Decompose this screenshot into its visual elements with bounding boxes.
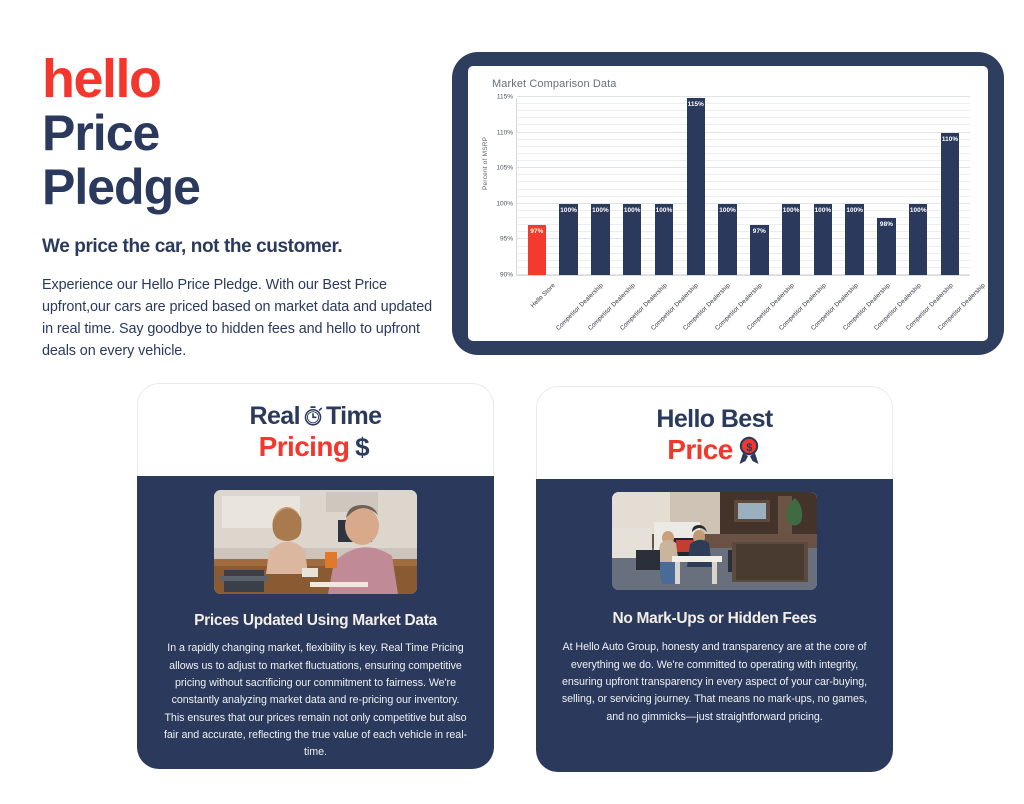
card-paragraph: At Hello Auto Group, honesty and transpa… — [560, 639, 869, 726]
x-label-slot: Hello Store — [520, 280, 552, 326]
card-title-word-price: Price — [667, 434, 733, 465]
photo-sales-consultation — [214, 490, 417, 594]
bar-slot: 115% — [680, 98, 712, 275]
award-ribbon-dollar-icon: $ — [736, 435, 762, 465]
y-tick-label: 95% — [500, 236, 513, 243]
bar-value-label: 97% — [530, 228, 543, 235]
chart-y-axis-label: Percent of MSRP — [482, 137, 489, 190]
bar-slot: 97% — [743, 98, 775, 275]
x-label-slot: Competitor Dealership — [839, 280, 871, 326]
bar-value-label: 100% — [783, 207, 800, 214]
card-title-text: Hello Best — [656, 405, 772, 433]
chart-bar[interactable]: 97% — [528, 225, 546, 275]
card-body: Prices Updated Using Market Data In a ra… — [137, 476, 494, 769]
x-label-slot: Competitor Dealership — [616, 280, 648, 326]
bar-slot: 100% — [775, 98, 807, 275]
card-title-word-pricing: Pricing — [259, 431, 350, 462]
chart-bar[interactable]: 100% — [909, 204, 927, 275]
bar-slot: 100% — [807, 98, 839, 275]
y-tick-label: 105% — [496, 165, 513, 172]
card-header: Hello Best Price $ — [536, 386, 893, 479]
bar-slot: 100% — [712, 98, 744, 275]
hero-subtitle: We price the car, not the customer. — [42, 236, 442, 258]
bar-slot: 98% — [871, 98, 903, 275]
chart-bar[interactable]: 100% — [623, 204, 641, 275]
bar-value-label: 100% — [910, 207, 927, 214]
bar-value-label: 100% — [719, 207, 736, 214]
x-label-slot: Competitor Dealership — [775, 280, 807, 326]
x-label-slot: Competitor Dealership — [934, 280, 966, 326]
bar-value-label: 97% — [753, 228, 766, 235]
bar-slot: 100% — [902, 98, 934, 275]
bar-value-label: 115% — [688, 101, 704, 108]
y-tick-label: 100% — [496, 200, 513, 207]
chart-bar[interactable]: 100% — [814, 204, 832, 275]
card-title-word-time: Time — [326, 402, 382, 430]
card-header: Real Time Pricing $ — [137, 383, 494, 476]
card-heading: No Mark-Ups or Hidden Fees — [536, 610, 893, 628]
chart-title: Market Comparison Data — [492, 78, 974, 90]
bar-value-label: 100% — [560, 207, 577, 214]
x-label-slot: Competitor Dealership — [552, 280, 584, 326]
y-tick-label: 90% — [500, 272, 513, 279]
bar-slot: 97% — [521, 98, 553, 275]
chart-bar[interactable]: 115% — [687, 98, 705, 275]
card-paragraph: In a rapidly changing market, flexibilit… — [163, 640, 468, 761]
page-title-line2: Pledge — [42, 160, 442, 214]
chart-bar[interactable]: 100% — [559, 204, 577, 275]
bar-slot: 100% — [839, 98, 871, 275]
bar-value-label: 100% — [815, 207, 832, 214]
x-label-slot: Competitor Dealership — [584, 280, 616, 326]
card-title-line2: Pricing $ — [148, 431, 483, 462]
chart-device-frame: Market Comparison Data Percent of MSRP 9… — [452, 52, 1004, 355]
bar-value-label: 100% — [656, 207, 673, 214]
bar-value-label: 100% — [846, 207, 863, 214]
chart-bar[interactable]: 98% — [877, 218, 895, 275]
chart-screen: Market Comparison Data Percent of MSRP 9… — [468, 66, 988, 341]
bar-value-label: 100% — [624, 207, 641, 214]
card-title-word-real: Real — [250, 402, 300, 430]
card-body: No Mark-Ups or Hidden Fees At Hello Auto… — [536, 479, 893, 772]
y-tick-label: 115% — [497, 94, 513, 101]
svg-text:$: $ — [355, 433, 370, 461]
bar-slot: 110% — [934, 98, 966, 275]
card-title-line1: Real Time — [148, 402, 483, 430]
x-label-slot: Competitor Dealership — [807, 280, 839, 326]
svg-text:$: $ — [746, 442, 752, 454]
stopwatch-icon — [302, 405, 324, 427]
bar-slot: 100% — [648, 98, 680, 275]
feature-card-hello-best-price: Hello Best Price $ — [536, 386, 893, 772]
brand-wordmark: hello — [42, 52, 442, 106]
card-title-line2: Price $ — [547, 434, 882, 465]
chart-bar[interactable]: 100% — [655, 204, 673, 275]
y-tick-label: 110% — [497, 129, 513, 136]
chart-bar[interactable]: 100% — [845, 204, 863, 275]
hero-section: hello Price Pledge We price the car, not… — [42, 52, 442, 363]
x-label-slot: Competitor Dealership — [647, 280, 679, 326]
chart-plot: 90%95%100%105%110%115% 97%100%100%100%10… — [516, 98, 970, 276]
photo-dealership-showroom — [612, 492, 817, 590]
bar-value-label: 110% — [942, 136, 958, 143]
dollar-sign-icon: $ — [352, 433, 372, 461]
chart-bars: 97%100%100%100%100%115%100%97%100%100%10… — [517, 98, 970, 275]
bar-slot: 100% — [553, 98, 585, 275]
x-tick-label: Competitor Dealership — [937, 282, 987, 332]
x-label-slot: Competitor Dealership — [711, 280, 743, 326]
feature-card-real-time-pricing: Real Time Pricing $ — [137, 383, 494, 769]
page-root: hello Price Pledge We price the car, not… — [0, 0, 1024, 804]
chart-x-ticks: Hello StoreCompetitor DealershipCompetit… — [516, 280, 970, 326]
x-label-slot: Competitor Dealership — [870, 280, 902, 326]
bar-slot: 100% — [616, 98, 648, 275]
chart-bar[interactable]: 100% — [782, 204, 800, 275]
chart-bar[interactable]: 110% — [941, 133, 959, 275]
page-title-line1: Price — [42, 106, 442, 160]
card-title-line1: Hello Best — [547, 405, 882, 433]
bar-value-label: 98% — [880, 221, 893, 228]
x-label-slot: Competitor Dealership — [902, 280, 934, 326]
hero-body-text: Experience our Hello Price Pledge. With … — [42, 275, 442, 363]
x-label-slot: Competitor Dealership — [743, 280, 775, 326]
card-heading: Prices Updated Using Market Data — [137, 612, 494, 630]
bar-slot: 100% — [585, 98, 617, 275]
gridline — [517, 96, 970, 97]
x-label-slot: Competitor Dealership — [679, 280, 711, 326]
bar-value-label: 100% — [592, 207, 609, 214]
chart-plot-area: Percent of MSRP 90%95%100%105%110%115% 9… — [480, 94, 974, 324]
chart-bar[interactable]: 97% — [750, 225, 768, 275]
chart-bar[interactable]: 100% — [591, 204, 609, 275]
chart-bar[interactable]: 100% — [718, 204, 736, 275]
